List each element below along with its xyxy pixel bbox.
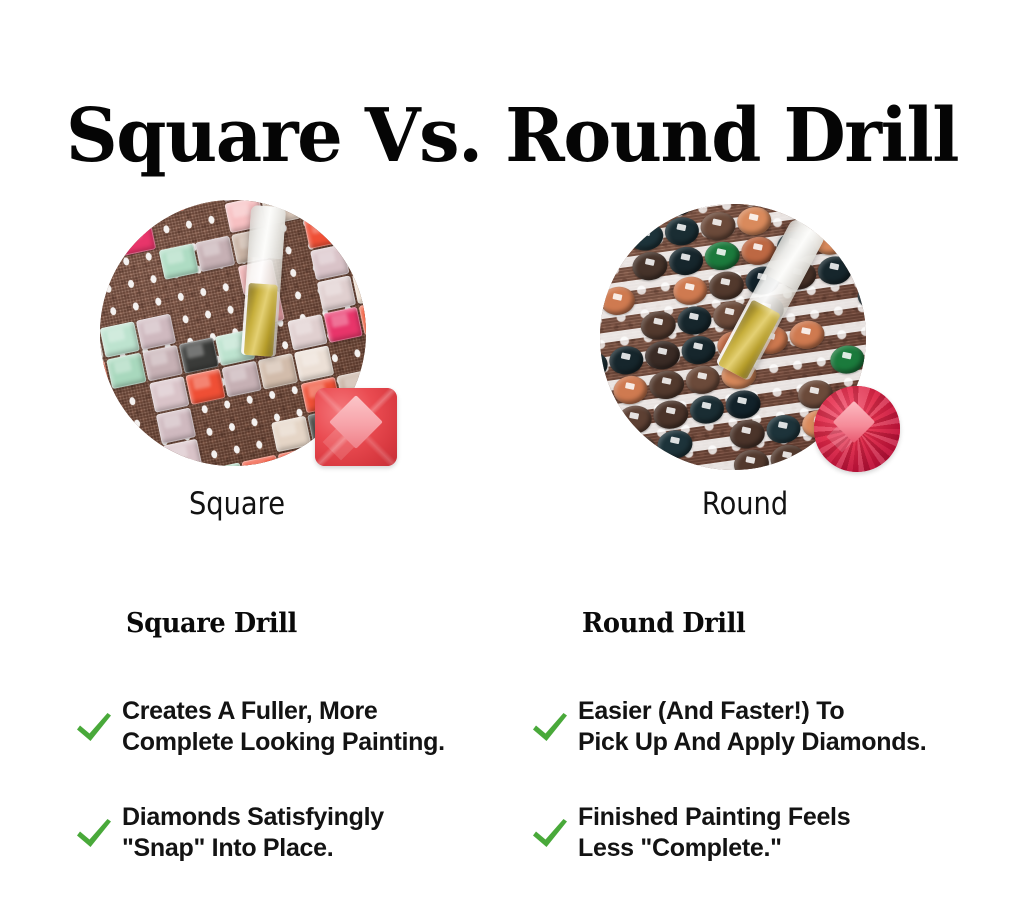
round-drill (600, 438, 622, 470)
round-drill (676, 304, 714, 337)
square-drill-bullet-list: Creates A Fuller, More Complete Looking … (74, 696, 504, 864)
list-item: Creates A Fuller, More Complete Looking … (74, 696, 504, 758)
round-drill (792, 348, 830, 381)
round-drill (627, 220, 665, 253)
round-drill (703, 239, 741, 272)
round-drill (600, 408, 618, 441)
round-drill (652, 398, 690, 431)
round-drill (828, 343, 866, 376)
round-drill (600, 284, 637, 317)
round-drill (852, 249, 866, 282)
check-icon (74, 813, 114, 853)
round-drill (807, 204, 845, 227)
round-drill (600, 255, 633, 288)
round-drill (696, 453, 734, 470)
square-drill (162, 439, 202, 466)
round-drill-heading: Round Drill (582, 608, 970, 640)
page-title: Square Vs. Round Drill (15, 94, 1008, 178)
round-drill (648, 368, 686, 401)
round-drill (695, 204, 733, 213)
round-drill (616, 403, 654, 436)
round-drill (820, 284, 858, 317)
round-drill (671, 274, 709, 307)
square-drill-photo-panel (88, 192, 418, 492)
round-drill (864, 338, 866, 371)
round-drill (769, 442, 807, 470)
round-drill (667, 245, 705, 278)
round-drill (692, 423, 730, 456)
round-drill (663, 215, 701, 248)
round-drill (603, 314, 641, 347)
square-drill-gem-icon (315, 388, 397, 466)
round-drill (684, 363, 722, 396)
check-icon (530, 813, 570, 853)
round-drill (844, 204, 866, 222)
round-drill (635, 279, 673, 312)
round-drill (765, 413, 803, 446)
round-drill (600, 319, 605, 352)
round-drill (860, 308, 866, 341)
round-drill (856, 279, 866, 312)
round-drill (631, 250, 669, 283)
round-drill (688, 393, 726, 426)
round-drill (640, 309, 678, 342)
round-drill (656, 428, 694, 461)
list-item-label: Easier (And Faster!) To Pick Up And Appl… (578, 696, 926, 758)
round-drill (756, 353, 794, 386)
square-drill (329, 338, 366, 375)
round-drill (788, 318, 826, 351)
round-drill (708, 269, 746, 302)
round-photo-caption: Round (600, 486, 890, 522)
list-item: Finished Painting Feels Less "Complete." (530, 802, 990, 864)
round-drill (760, 383, 798, 416)
list-item: Diamonds Satisfyingly "Snap" Into Place. (74, 802, 504, 864)
round-drill-bullet-list: Easier (And Faster!) To Pick Up And Appl… (530, 696, 990, 864)
square-drill (198, 432, 238, 466)
list-item-label: Diamonds Satisfyingly "Snap" Into Place. (122, 802, 384, 864)
round-drill (620, 433, 658, 466)
check-icon (74, 707, 114, 747)
round-drill (612, 374, 650, 407)
round-drill (735, 205, 773, 238)
round-drill (733, 447, 771, 470)
square-photo-caption: Square (92, 486, 382, 522)
round-drill (848, 219, 866, 252)
round-drill (680, 334, 718, 367)
round-drill (659, 204, 697, 218)
round-drill (608, 344, 646, 377)
round-drill (623, 204, 661, 223)
list-item-label: Creates A Fuller, More Complete Looking … (122, 696, 445, 758)
square-drill (339, 205, 366, 242)
round-drill (600, 349, 610, 382)
round-drill (728, 418, 766, 451)
round-drill (600, 225, 629, 258)
round-drill-photo-panel (588, 196, 918, 496)
round-drill-gem-icon (814, 386, 900, 472)
round-drill (816, 254, 854, 287)
list-item-label: Finished Painting Feels Less "Complete." (578, 802, 850, 864)
infographic-page: Square Vs. Round Drill (0, 0, 1024, 923)
round-drill (824, 313, 862, 346)
round-drill (699, 210, 737, 243)
round-drill (624, 463, 662, 470)
round-drill-column: Round Drill Easier (And Faster!) To Pick… (530, 608, 990, 908)
list-item: Easier (And Faster!) To Pick Up And Appl… (530, 696, 990, 758)
check-icon (530, 707, 570, 747)
square-drill-column: Square Drill Creates A Fuller, More Comp… (74, 608, 504, 908)
round-drill (660, 458, 698, 470)
square-drill-heading: Square Drill (126, 608, 485, 640)
round-drill (600, 379, 614, 412)
round-drill (644, 339, 682, 372)
round-drill (724, 388, 762, 421)
round-drill (600, 204, 625, 228)
square-drill (100, 455, 130, 466)
